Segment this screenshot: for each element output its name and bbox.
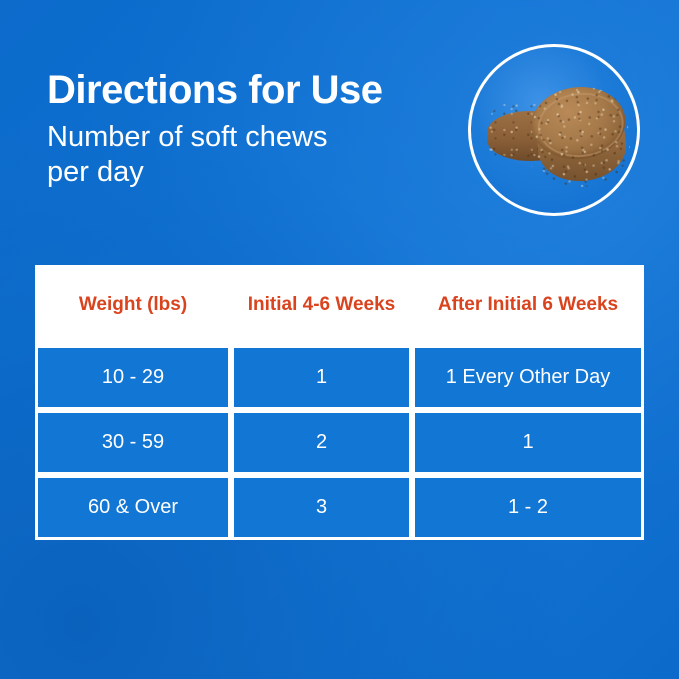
- cell-weight: 10 - 29: [35, 345, 231, 410]
- column-header-after-initial: After Initial 6 Weeks: [412, 265, 644, 345]
- table-row: 10 - 29 1 1 Every Other Day: [35, 345, 644, 410]
- product-image-circle: [468, 44, 640, 216]
- page-title: Directions for Use: [47, 66, 447, 114]
- cell-weight: 30 - 59: [35, 410, 231, 475]
- cell-initial: 3: [231, 475, 412, 540]
- dosage-table-head: Weight (lbs) Initial 4-6 Weeks After Ini…: [35, 265, 644, 345]
- directions-for-use-infographic: Directions for Use Number of soft chews …: [0, 0, 679, 679]
- cell-after: 1: [412, 410, 644, 475]
- dosage-table-container: Weight (lbs) Initial 4-6 Weeks After Ini…: [35, 265, 644, 540]
- column-header-initial-weeks: Initial 4-6 Weeks: [231, 265, 412, 345]
- dosage-table: Weight (lbs) Initial 4-6 Weeks After Ini…: [35, 265, 644, 540]
- page-subtitle: Number of soft chews per day: [47, 120, 377, 190]
- heading-block: Directions for Use Number of soft chews …: [47, 66, 447, 190]
- cell-after: 1 Every Other Day: [412, 345, 644, 410]
- soft-chews-photo: [471, 47, 637, 213]
- dosage-table-body: 10 - 29 1 1 Every Other Day 30 - 59 2 1 …: [35, 345, 644, 540]
- column-header-weight: Weight (lbs): [35, 265, 231, 345]
- table-row: 60 & Over 3 1 - 2: [35, 475, 644, 540]
- soft-chew-front: [528, 82, 634, 191]
- cell-initial: 2: [231, 410, 412, 475]
- table-header-row: Weight (lbs) Initial 4-6 Weeks After Ini…: [35, 265, 644, 345]
- cell-initial: 1: [231, 345, 412, 410]
- cell-after: 1 - 2: [412, 475, 644, 540]
- table-row: 30 - 59 2 1: [35, 410, 644, 475]
- cell-weight: 60 & Over: [35, 475, 231, 540]
